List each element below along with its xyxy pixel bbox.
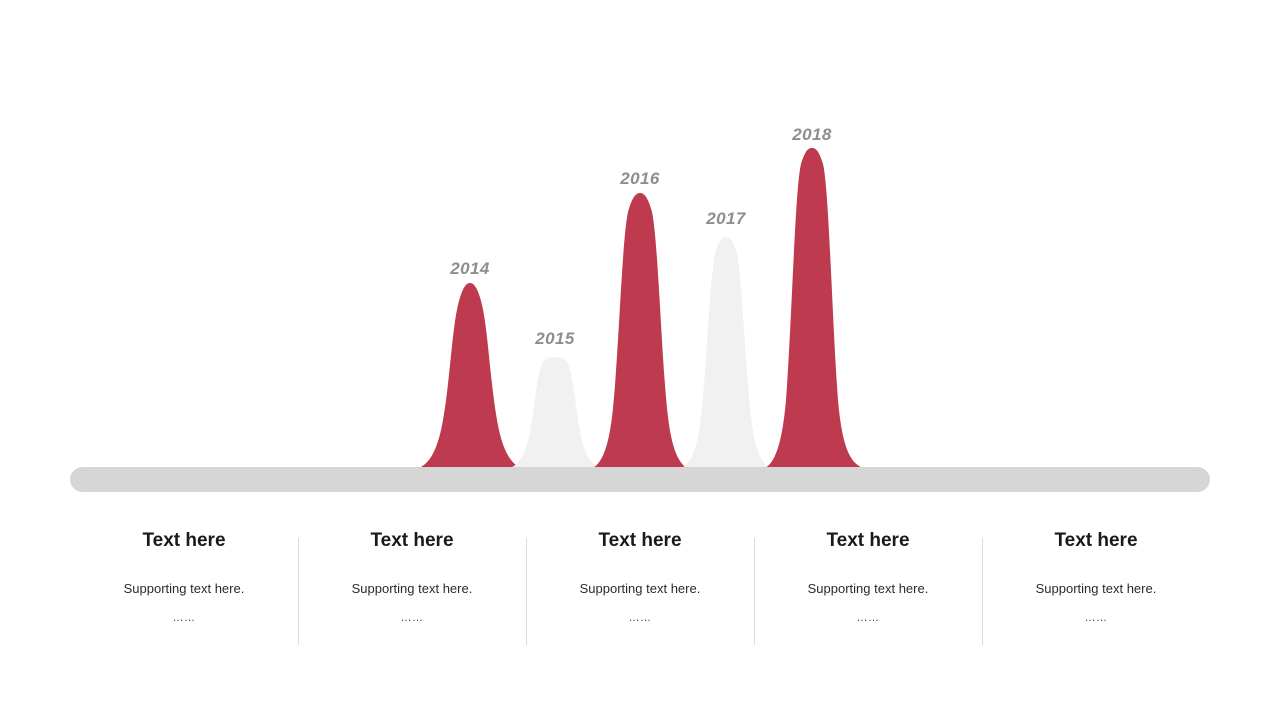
- legend-column-1[interactable]: Text here Supporting text here. ……: [70, 520, 298, 650]
- legend-column-4[interactable]: Text here Supporting text here. ……: [754, 520, 982, 650]
- legend-title: Text here: [826, 530, 909, 553]
- peak-shape-2018: [757, 148, 875, 470]
- peak-shape-2015: [500, 357, 610, 470]
- year-label-2015: 2015: [535, 329, 574, 349]
- year-label-2014: 2014: [450, 259, 489, 279]
- legend-ellipsis: ……: [401, 613, 424, 624]
- legend-column-5[interactable]: Text here Supporting text here. ……: [982, 520, 1210, 650]
- slide-canvas: 2014 2015 2016 2017 2018 Text here Suppo…: [0, 0, 1280, 720]
- peak-shape-2016: [584, 193, 696, 470]
- legend-subtitle: Supporting text here.: [808, 581, 929, 597]
- year-label-2016: 2016: [620, 169, 659, 189]
- legend-column-3[interactable]: Text here Supporting text here. ……: [526, 520, 754, 650]
- peak-shape-2014: [408, 283, 532, 470]
- legend-subtitle: Supporting text here.: [352, 581, 473, 597]
- peak-shape-2017: [673, 237, 779, 470]
- legend-title: Text here: [1054, 530, 1137, 553]
- peak-curves-svg: [0, 0, 1280, 500]
- legend-subtitle: Supporting text here.: [124, 581, 245, 597]
- legend-columns: Text here Supporting text here. …… Text …: [70, 520, 1210, 650]
- legend-column-2[interactable]: Text here Supporting text here. ……: [298, 520, 526, 650]
- legend-title: Text here: [598, 530, 681, 553]
- year-label-2018: 2018: [792, 125, 831, 145]
- legend-ellipsis: ……: [1085, 613, 1108, 624]
- legend-title: Text here: [370, 530, 453, 553]
- timeline-baseline-bar: [70, 467, 1210, 492]
- legend-ellipsis: ……: [629, 613, 652, 624]
- legend-ellipsis: ……: [173, 613, 196, 624]
- year-label-2017: 2017: [706, 209, 745, 229]
- legend-ellipsis: ……: [857, 613, 880, 624]
- legend-subtitle: Supporting text here.: [1036, 581, 1157, 597]
- peak-chart: 2014 2015 2016 2017 2018: [0, 0, 1280, 500]
- legend-subtitle: Supporting text here.: [580, 581, 701, 597]
- legend-title: Text here: [142, 530, 225, 553]
